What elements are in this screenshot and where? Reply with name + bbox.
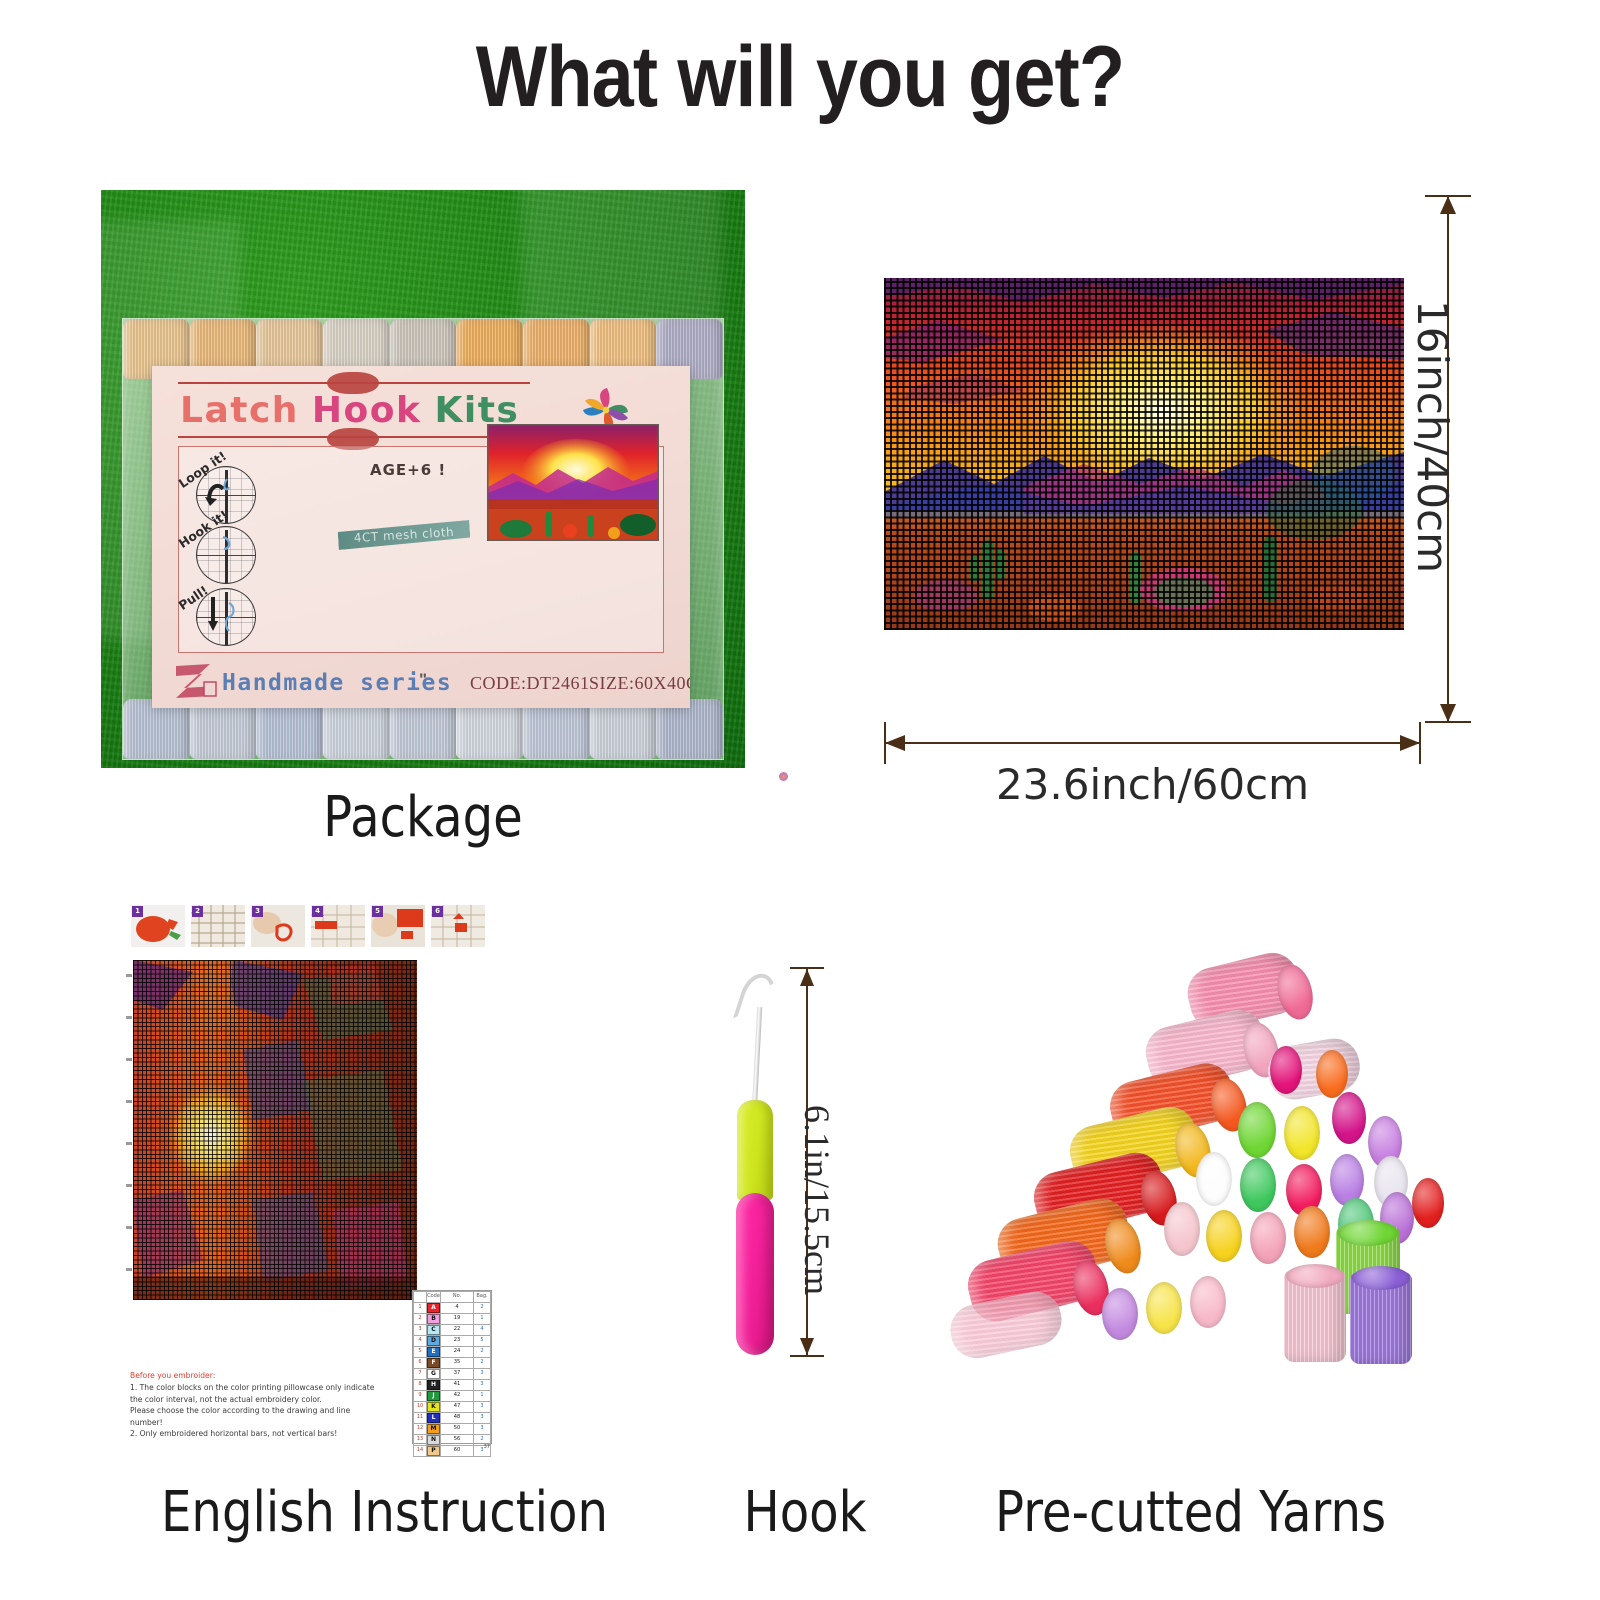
legend-bag: 4 [474, 1324, 491, 1335]
arrow-down-icon [1439, 700, 1457, 722]
legend-header-row: Code No. Bag. [414, 1292, 491, 1303]
step-thumbnail: 1 1 [131, 905, 185, 947]
mesh-canvas-image [884, 278, 1404, 630]
step-thumbnail: 3 3 [251, 905, 305, 947]
step-thumbnail-strip: 1 1 2 2 3 3 4 4 5 5 [131, 905, 499, 953]
legend-bag: 3 [474, 1412, 491, 1423]
yarn-cap [1412, 1178, 1444, 1228]
legend-no: 19 [441, 1313, 474, 1324]
package-label: Latch Hook Kits [152, 366, 690, 708]
arrow-down-icon [799, 1335, 815, 1355]
legend-no: 24 [441, 1346, 474, 1357]
legend-no: 42 [441, 1390, 474, 1401]
yarn-bundle [190, 699, 257, 759]
legend-bag: 3 [474, 1368, 491, 1379]
legend-index: 12 [414, 1423, 427, 1434]
plastic-bag: Latch Hook Kits [122, 318, 724, 760]
instruction-caption: English Instruction [161, 1480, 591, 1545]
legend-code: J [427, 1391, 440, 1401]
step-badge: 3 [252, 906, 263, 917]
legend-swatch: M [427, 1423, 441, 1434]
image-artifact-dot [779, 772, 788, 781]
code-text: CODE:DT2461 [470, 673, 590, 694]
legend-no: 4 [441, 1302, 474, 1313]
legend-header-no: No. [441, 1292, 474, 1303]
yarn-cap [1164, 1202, 1200, 1256]
series-text: Handmade series [222, 670, 452, 696]
legend-bag: 2 [474, 1357, 491, 1368]
legend-header-bag: Bag. [474, 1292, 491, 1303]
table-row: 6F352 [414, 1357, 491, 1368]
legend-swatch: K [427, 1401, 441, 1412]
legend-swatch: D [427, 1335, 441, 1346]
chart-row-ticks [126, 960, 133, 1300]
legend-code: C [427, 1325, 440, 1335]
legend-swatch: G [427, 1368, 441, 1379]
yarn-bundle [390, 699, 457, 759]
legend-swatch: F [427, 1357, 441, 1368]
step-badge: 1 [132, 906, 143, 917]
table-row: 3C224 [414, 1324, 491, 1335]
legend-total: 37 [412, 1444, 490, 1450]
yarn-cap [1352, 1266, 1410, 1290]
hook-handle-lower [736, 1193, 774, 1355]
step-thumbnail: 6 6 [431, 905, 485, 947]
arrow-up-icon [1439, 196, 1457, 218]
yarn-cap [1196, 1152, 1232, 1206]
brand-word-latch: Latch [180, 390, 299, 431]
legend-code: D [427, 1336, 440, 1346]
instruction-pattern-chart [133, 960, 417, 1300]
yarn-cap [1190, 1276, 1226, 1328]
legend-bag: 3 [474, 1423, 491, 1434]
canvas-width-label: 23.6inch/60cm [884, 760, 1421, 809]
yarn-cap [1338, 1220, 1398, 1246]
legend-index: 4 [414, 1335, 427, 1346]
table-row: 11L483 [414, 1412, 491, 1423]
yarn-row-bottom [123, 699, 723, 759]
color-legend-table: Code No. Bag. 1A42 2B191 3C224 4D235 5E2… [412, 1290, 492, 1444]
step-badge: 2 [192, 906, 203, 917]
yarn-bundle [323, 699, 390, 759]
legend-index: 9 [414, 1390, 427, 1401]
legend-swatch: A [427, 1302, 441, 1313]
design-preview-image [487, 424, 659, 541]
table-row: 8H413 [414, 1379, 491, 1390]
legend-index: 7 [414, 1368, 427, 1379]
legend-swatch: E [427, 1346, 441, 1357]
brand-word-hook: Hook [312, 390, 422, 431]
legend-no: 47 [441, 1401, 474, 1412]
width-dimension-line [884, 742, 1421, 744]
notes-line-4: 2. Only embroidered horizontal bars, not… [130, 1428, 380, 1439]
legend-code: K [427, 1402, 440, 1412]
table-row: 2B191 [414, 1313, 491, 1324]
legend-index: 1 [414, 1302, 427, 1313]
yarn-cap [1146, 1282, 1182, 1334]
table-row: 7G373 [414, 1368, 491, 1379]
arrow-up-icon [799, 969, 815, 989]
legend-code: M [427, 1424, 440, 1434]
legend-bag: 5 [474, 1335, 491, 1346]
legend-code: L [427, 1413, 440, 1423]
pre-cut-yarns-photo [950, 920, 1450, 1400]
brand-z-logo-icon [170, 658, 224, 702]
legend-bag: 2 [474, 1346, 491, 1357]
yarn-cap [1240, 1158, 1276, 1212]
legend-index: 8 [414, 1379, 427, 1390]
legend-index: 10 [414, 1401, 427, 1412]
legend-index: 2 [414, 1313, 427, 1324]
yarn-bundle [523, 699, 590, 759]
legend-code: G [427, 1369, 440, 1379]
yarn-roll-reflection [946, 1287, 1067, 1363]
legend-swatch: L [427, 1412, 441, 1423]
legend-no: 22 [441, 1324, 474, 1335]
age-text: AGE+6 ! [370, 461, 446, 479]
step-thumbnail: 4 4 [311, 905, 365, 947]
step-badge: 5 [372, 906, 383, 917]
yarn-cap [1270, 1046, 1302, 1094]
legend-no: 37 [441, 1368, 474, 1379]
yarn-bundle [256, 699, 323, 759]
yarn-bundle [456, 699, 523, 759]
table-row: 12M503 [414, 1423, 491, 1434]
hook-handle-upper [737, 1100, 773, 1200]
hook-length-label: 6.1in/15.5cm [796, 1105, 838, 1295]
yarn-cap [1286, 1264, 1344, 1288]
yarn-cap [1294, 1206, 1330, 1258]
legend-bag: 1 [474, 1390, 491, 1401]
canvas-height-label: 16inch/40cm [1408, 300, 1457, 573]
legend-swatch: B [427, 1313, 441, 1324]
legend-code: B [427, 1314, 440, 1324]
page-title: What will you get? [96, 28, 1504, 127]
yarn-cap [1250, 1212, 1286, 1264]
yarn-cap [1206, 1210, 1242, 1262]
yarn-bundle [590, 699, 657, 759]
legend-index: 6 [414, 1357, 427, 1368]
legend-code: A [427, 1303, 440, 1313]
package-photo: Latch Hook Kits [101, 190, 745, 768]
quote-mark: " [419, 670, 427, 690]
legend-header-code: Code [427, 1292, 441, 1303]
yarn-bundle [656, 699, 723, 759]
legend-code: H [427, 1380, 440, 1390]
infographic-page: What will you get? [0, 0, 1600, 1600]
legend-index: 3 [414, 1324, 427, 1335]
legend-no: 41 [441, 1379, 474, 1390]
chart-grid-overlay [133, 960, 417, 1300]
step-thumbnail: 5 5 [371, 905, 425, 947]
mesh-canvas-preview [884, 278, 1404, 630]
legend-bag: 3 [474, 1401, 491, 1412]
before-you-embroider-notes: Before you embroider: 1. The color block… [130, 1370, 380, 1439]
notes-heading: Before you embroider: [130, 1370, 380, 1381]
yarns-caption: Pre-cutted Yarns [995, 1480, 1425, 1545]
step-badge: 4 [312, 906, 323, 917]
legend-no: 35 [441, 1357, 474, 1368]
hook-dimension-tick-bottom [790, 1355, 824, 1357]
arrow-right-icon [1398, 734, 1420, 752]
legend-swatch: H [427, 1379, 441, 1390]
legend-bag: 3 [474, 1379, 491, 1390]
size-text: SIZE:60X40CM [589, 673, 690, 694]
legend-swatch: C [427, 1324, 441, 1335]
step-badge: 6 [432, 906, 443, 917]
arrow-left-icon [885, 734, 907, 752]
yarn-bundle [123, 699, 190, 759]
legend-no: 48 [441, 1412, 474, 1423]
legend-no: 50 [441, 1423, 474, 1434]
legend-table: Code No. Bag. 1A42 2B191 3C224 4D235 5E2… [413, 1291, 491, 1457]
notes-line-2: the color interval, not the actual embro… [130, 1394, 380, 1405]
legend-index: 11 [414, 1412, 427, 1423]
yarn-cap [1102, 1288, 1138, 1340]
notes-line-1: 1. The color blocks on the color printin… [130, 1382, 380, 1393]
table-row: 10K473 [414, 1401, 491, 1412]
yarn-cap [1316, 1050, 1348, 1098]
legend-code: E [427, 1347, 440, 1357]
yarn-cap [1332, 1092, 1366, 1144]
table-row: 5E242 [414, 1346, 491, 1357]
table-row: 1A42 [414, 1302, 491, 1313]
legend-index: 5 [414, 1346, 427, 1357]
package-caption: Package [146, 785, 700, 850]
yarn-cap [1238, 1102, 1276, 1158]
hook-caption: Hook [680, 1480, 929, 1545]
legend-code: F [427, 1358, 440, 1368]
table-row: 4D235 [414, 1335, 491, 1346]
table-row: 9J421 [414, 1390, 491, 1401]
legend-bag: 1 [474, 1313, 491, 1324]
step-thumbnail: 2 2 [191, 905, 245, 947]
legend-no: 23 [441, 1335, 474, 1346]
legend-header-index [414, 1292, 427, 1303]
legend-swatch: J [427, 1390, 441, 1401]
yarn-cap [1284, 1106, 1320, 1160]
notes-line-3: Please choose the color according to the… [130, 1405, 380, 1428]
legend-bag: 2 [474, 1302, 491, 1313]
